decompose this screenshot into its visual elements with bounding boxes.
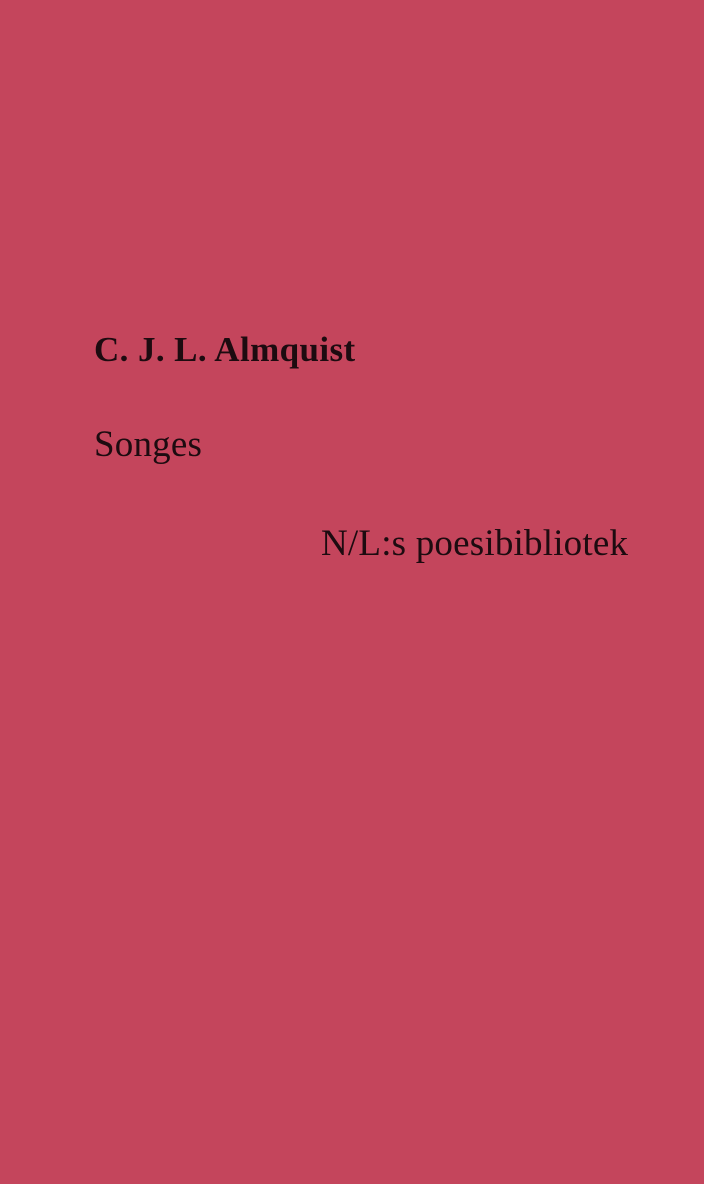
author-name: C. J. L. Almquist (94, 332, 356, 367)
cover-text-block: C. J. L. Almquist Songes N/L:s poesibibl… (0, 0, 704, 1184)
book-cover: C. J. L. Almquist Songes N/L:s poesibibl… (0, 0, 704, 1184)
series-name: N/L:s poesibibliotek (321, 525, 628, 562)
book-title: Songes (94, 426, 202, 463)
